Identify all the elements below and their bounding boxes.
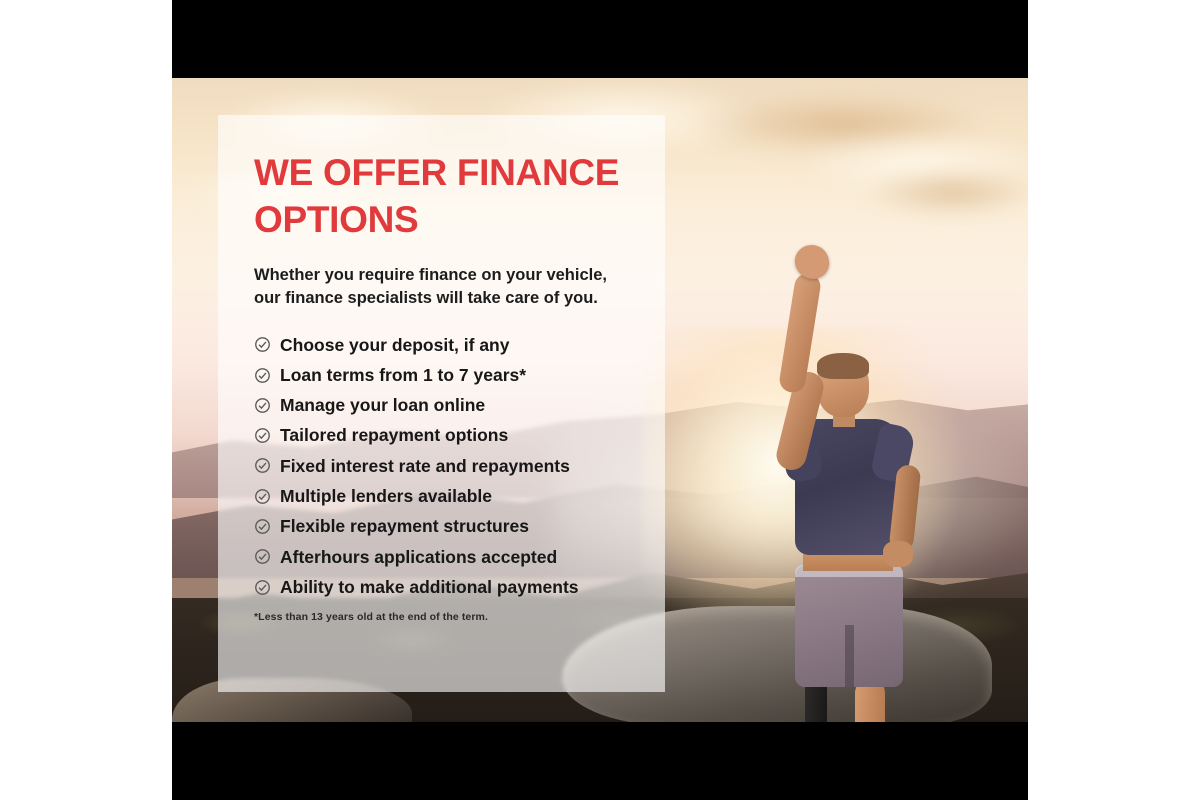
list-item-label: Tailored repayment options xyxy=(280,425,508,445)
list-item-label: Multiple lenders available xyxy=(280,486,492,506)
circled-check-icon xyxy=(254,427,271,444)
list-item: Loan terms from 1 to 7 years* xyxy=(254,365,637,385)
content-panel: WE OFFER FINANCE OPTIONS Whether you req… xyxy=(218,115,665,692)
circled-check-icon xyxy=(254,367,271,384)
list-item-label: Fixed interest rate and repayments xyxy=(280,456,570,476)
list-item-label: Ability to make additional payments xyxy=(280,577,579,597)
circled-check-icon xyxy=(254,579,271,596)
list-item: Afterhours applications accepted xyxy=(254,547,637,567)
circled-check-icon xyxy=(254,397,271,414)
list-item: Flexible repayment structures xyxy=(254,516,637,536)
page-title: WE OFFER FINANCE OPTIONS xyxy=(254,149,637,244)
list-item: Fixed interest rate and repayments xyxy=(254,456,637,476)
letterbox-bar-bottom xyxy=(172,722,1028,800)
celebrating-man-figure xyxy=(677,173,977,693)
list-item-label: Loan terms from 1 to 7 years* xyxy=(280,365,526,385)
subheading-text: Whether you require finance on your vehi… xyxy=(254,264,637,311)
list-item: Ability to make additional payments xyxy=(254,577,637,597)
list-item-label: Flexible repayment structures xyxy=(280,516,529,536)
list-item: Tailored repayment options xyxy=(254,425,637,445)
benefits-list: Choose your deposit, if any Loan terms f… xyxy=(254,335,637,598)
list-item-label: Choose your deposit, if any xyxy=(280,335,509,355)
footnote-text: *Less than 13 years old at the end of th… xyxy=(254,611,637,623)
list-item-label: Afterhours applications accepted xyxy=(280,547,557,567)
circled-check-icon xyxy=(254,548,271,565)
circled-check-icon xyxy=(254,488,271,505)
hand-on-hip xyxy=(883,541,913,567)
list-item-label: Manage your loan online xyxy=(280,395,485,415)
letterbox-bar-top xyxy=(172,0,1028,78)
poster-canvas: WE OFFER FINANCE OPTIONS Whether you req… xyxy=(0,0,1200,800)
circled-check-icon xyxy=(254,518,271,535)
hair xyxy=(817,353,869,379)
list-item: Manage your loan online xyxy=(254,395,637,415)
list-item: Choose your deposit, if any xyxy=(254,335,637,355)
list-item: Multiple lenders available xyxy=(254,486,637,506)
shorts-seam xyxy=(845,625,854,687)
circled-check-icon xyxy=(254,336,271,353)
circled-check-icon xyxy=(254,457,271,474)
